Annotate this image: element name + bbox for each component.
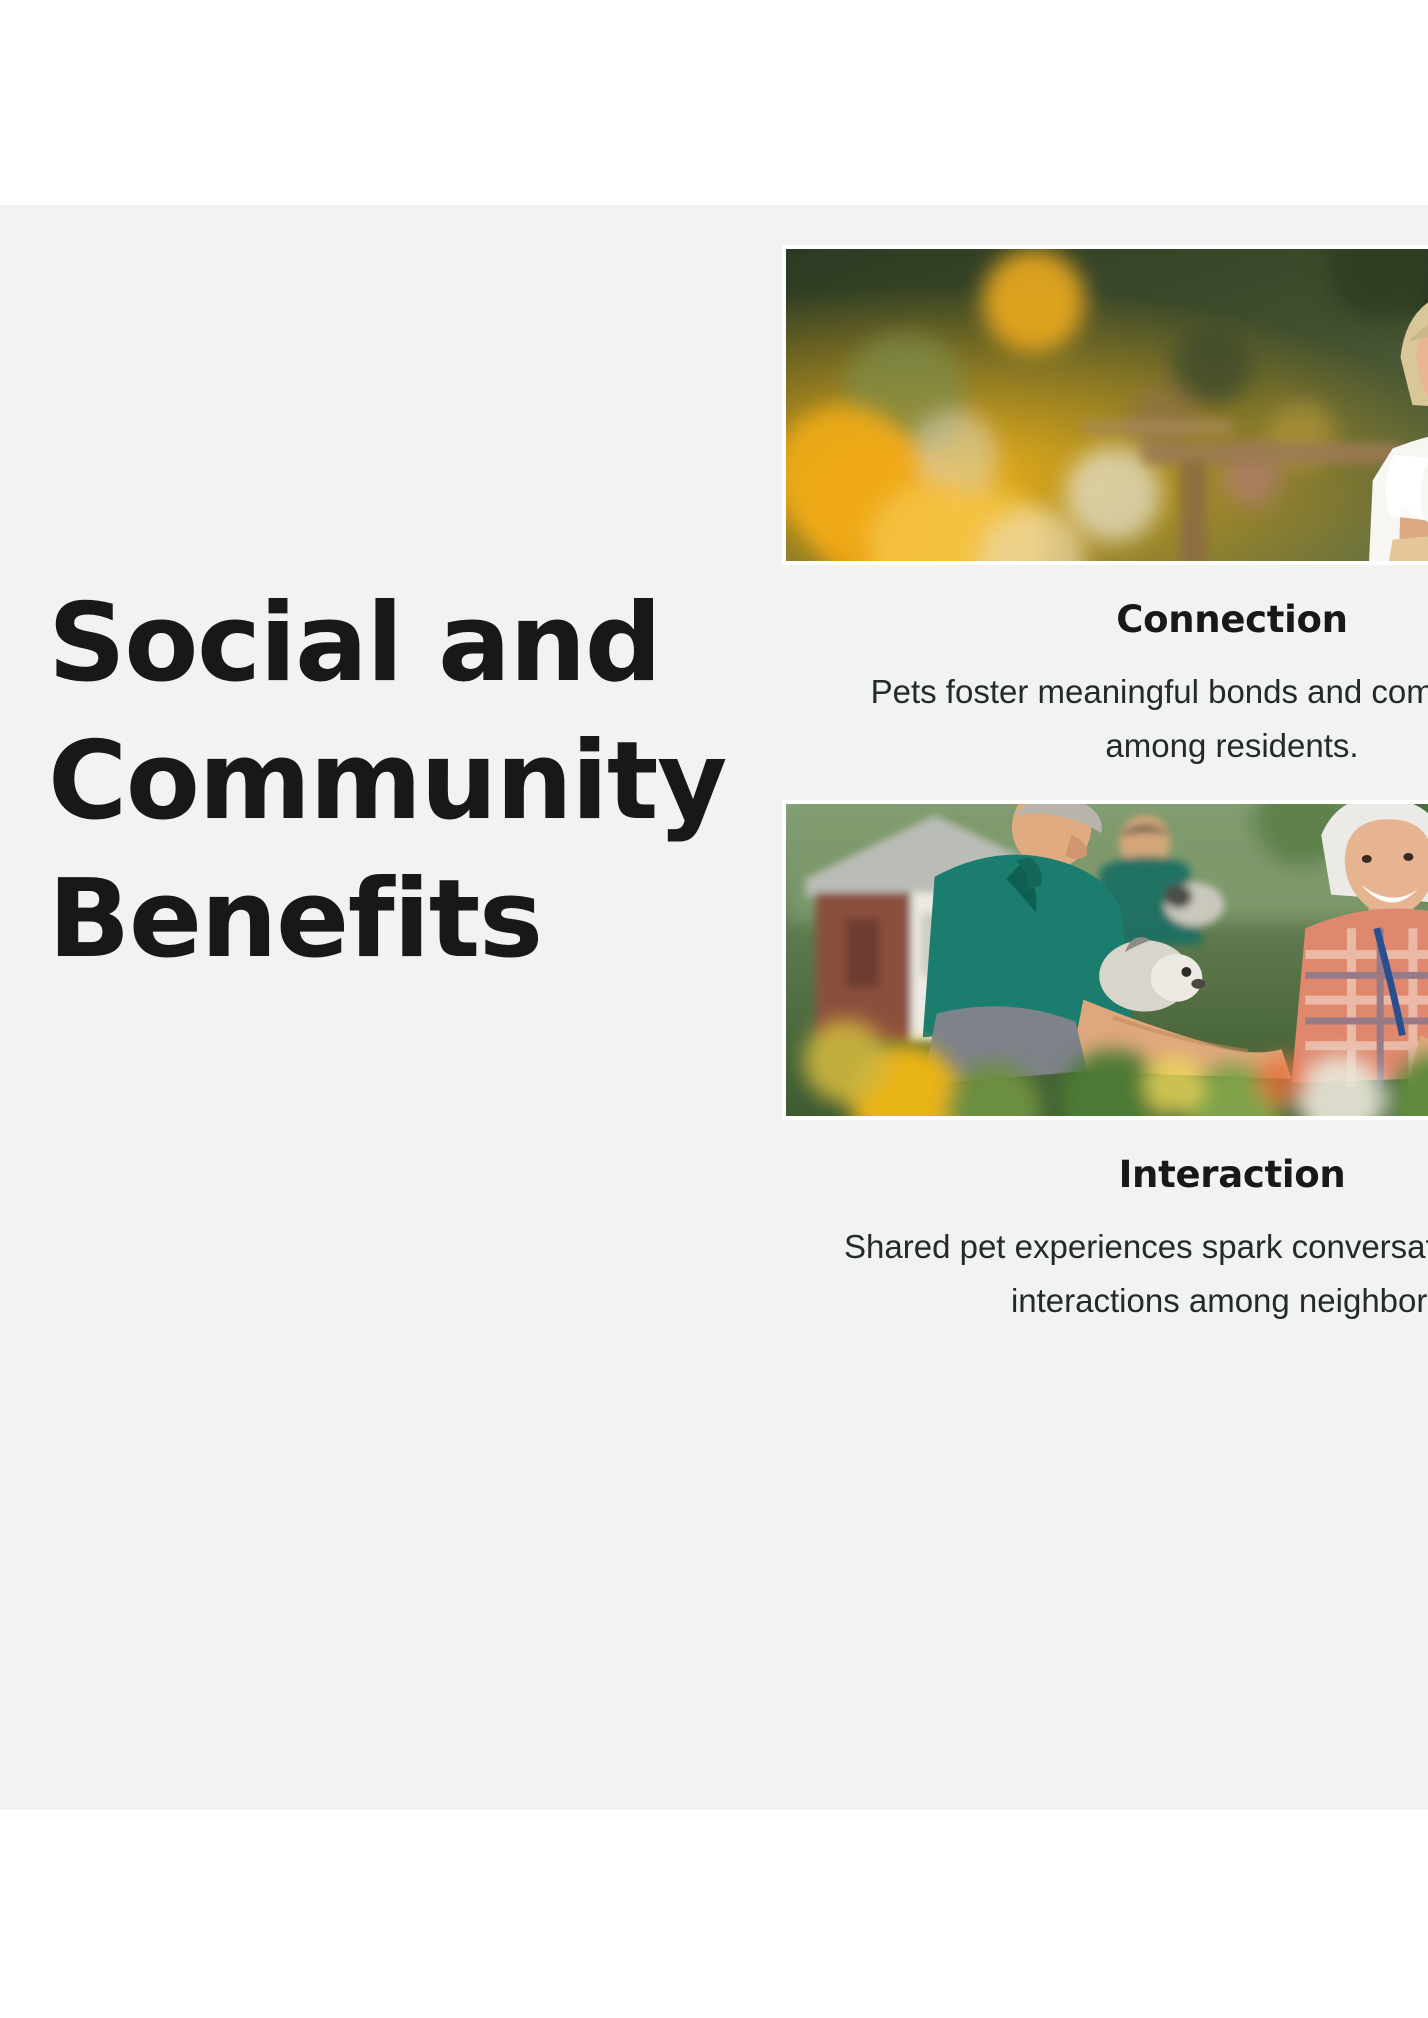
card-heading: Connection — [782, 597, 1428, 643]
benefit-cards-column: Connection Pets foster meaningful bonds … — [782, 245, 1428, 1349]
card-body-text: Shared pet experiences spark conversatio… — [782, 1220, 1428, 1327]
benefit-card: Interaction Shared pet experiences spark… — [782, 800, 1428, 1327]
slide-canvas: Social and Community Benefits — [0, 205, 1428, 1810]
card-image-senior-woman-hugging-dog-in-garden — [782, 245, 1428, 565]
benefit-card: Connection Pets foster meaningful bonds … — [782, 245, 1428, 772]
card-image-seniors-and-volunteers-petting-dogs-outdoors — [782, 800, 1428, 1120]
slide-page: Social and Community Benefits — [0, 0, 1428, 2018]
title-column: Social and Community Benefits — [48, 575, 748, 990]
card-body-text: Pets foster meaningful bonds and compani… — [782, 665, 1428, 772]
page-title: Social and Community Benefits — [48, 575, 748, 990]
card-heading: Interaction — [782, 1152, 1428, 1198]
